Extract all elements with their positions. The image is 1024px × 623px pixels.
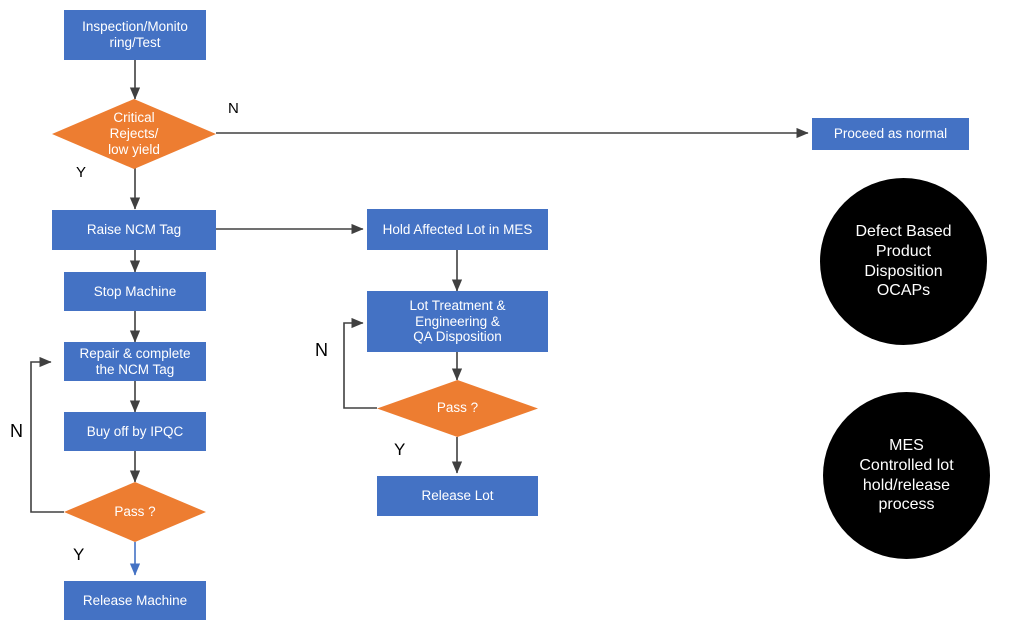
node-raise-ncm-tag[interactable]: Raise NCM Tag: [52, 210, 216, 250]
node-lot-treatment-label: Lot Treatment & Engineering & QA Disposi…: [409, 298, 505, 346]
node-release-machine-label: Release Machine: [83, 593, 187, 609]
node-release-machine[interactable]: Release Machine: [64, 581, 206, 620]
node-inspection-label: Inspection/Monito ring/Test: [82, 19, 188, 51]
node-critical-rejects-low-yield[interactable]: Critical Rejects/ low yield: [52, 99, 216, 169]
edge-pass-machine-no-loop: [31, 362, 64, 512]
node-repair-complete-ncm-tag[interactable]: Repair & complete the NCM Tag: [64, 342, 206, 381]
edge-label-critical-yes: Y: [76, 164, 86, 181]
annotation-ocaps-label: Defect Based Product Disposition OCAPs: [855, 222, 951, 300]
edge-label-pass-machine-no: N: [10, 421, 23, 442]
node-stop-machine[interactable]: Stop Machine: [64, 272, 206, 311]
diamond-shape: [377, 380, 538, 437]
node-hold-lot-label: Hold Affected Lot in MES: [383, 222, 533, 238]
node-pass-lot-decision[interactable]: Pass ?: [377, 380, 538, 437]
node-pass-machine-decision[interactable]: Pass ?: [64, 482, 206, 542]
edge-label-pass-lot-yes: Y: [394, 440, 405, 460]
node-buy-off-label: Buy off by IPQC: [87, 424, 184, 440]
node-hold-affected-lot-in-mes[interactable]: Hold Affected Lot in MES: [367, 209, 548, 250]
edge-label-critical-no: N: [228, 100, 239, 117]
edge-label-pass-machine-yes: Y: [73, 545, 84, 565]
edge-label-pass-lot-no: N: [315, 340, 328, 361]
node-lot-treatment-engineering-qa-disposition[interactable]: Lot Treatment & Engineering & QA Disposi…: [367, 291, 548, 352]
annotation-circle-mes-controlled-lot: MES Controlled lot hold/release process: [823, 392, 990, 559]
node-buy-off-by-ipqc[interactable]: Buy off by IPQC: [64, 412, 206, 451]
node-repair-complete-label: Repair & complete the NCM Tag: [79, 346, 190, 378]
node-raise-ncm-tag-label: Raise NCM Tag: [87, 222, 181, 238]
annotation-mes-label: MES Controlled lot hold/release process: [859, 436, 953, 514]
node-proceed-as-normal-label: Proceed as normal: [834, 126, 947, 142]
diamond-shape: [64, 482, 206, 542]
node-stop-machine-label: Stop Machine: [94, 284, 177, 300]
flowchart-canvas: Inspection/Monito ring/Test Critical Rej…: [0, 0, 1024, 623]
node-release-lot-label: Release Lot: [421, 488, 493, 504]
node-release-lot[interactable]: Release Lot: [377, 476, 538, 516]
diamond-shape: [52, 99, 216, 169]
annotation-circle-defect-based-ocaps: Defect Based Product Disposition OCAPs: [820, 178, 987, 345]
node-proceed-as-normal[interactable]: Proceed as normal: [812, 118, 969, 150]
node-inspection-monitoring-test[interactable]: Inspection/Monito ring/Test: [64, 10, 206, 60]
